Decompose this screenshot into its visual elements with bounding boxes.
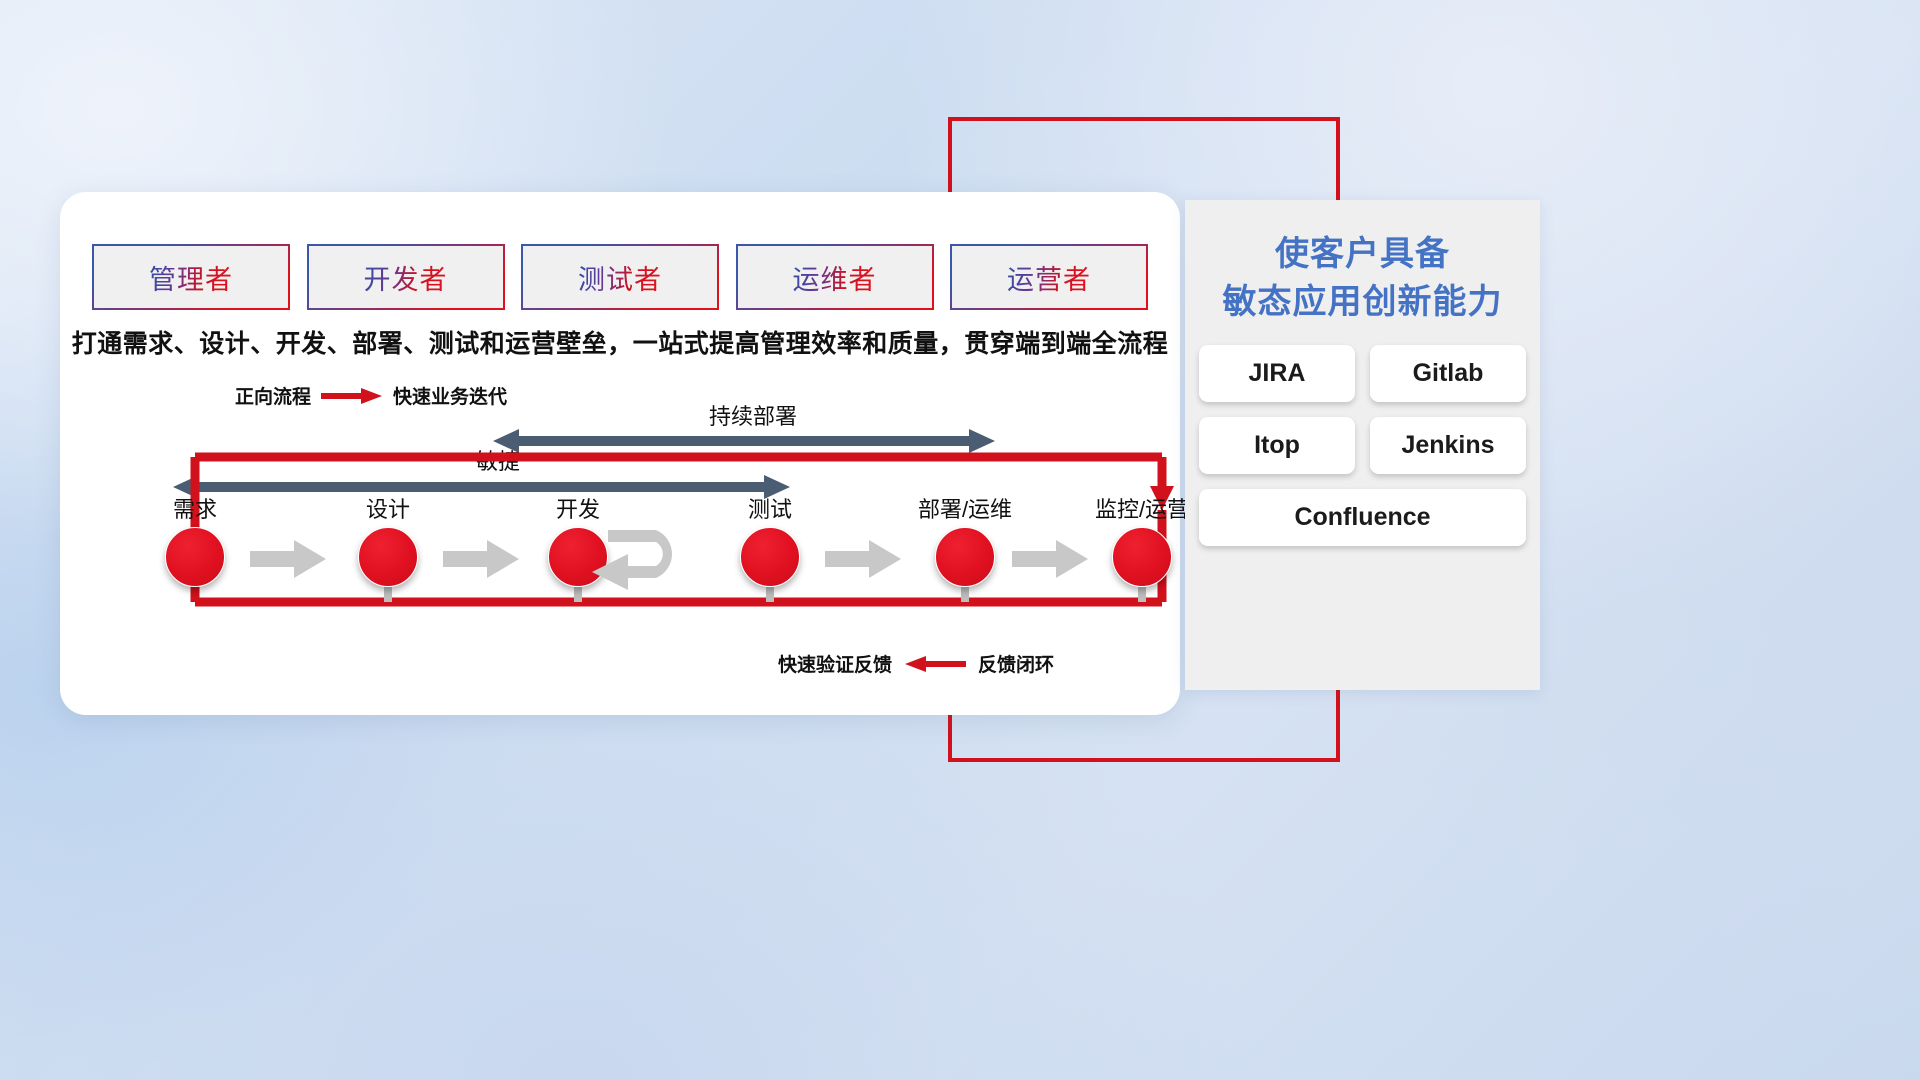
stage-label: 设计: [328, 492, 448, 524]
tool-item-gitlab[interactable]: Gitlab: [1370, 345, 1526, 402]
stage-label: 测试: [710, 492, 830, 524]
pipeline-stage-design[interactable]: 设计: [328, 492, 448, 587]
stage-label: 部署/运维: [905, 492, 1025, 524]
role-box-developer[interactable]: 开发者: [307, 244, 505, 310]
pipeline-row: 需求 设计 开发 测试: [60, 492, 1180, 612]
stage-label: 开发: [518, 492, 638, 524]
tool-label: Itop: [1254, 431, 1300, 460]
panel-title: 使客户具备 敏态应用创新能力: [1185, 230, 1540, 327]
stage-dot-icon: [935, 527, 995, 587]
tool-item-confluence[interactable]: Confluence: [1199, 489, 1526, 546]
role-label: 开发者: [364, 258, 448, 297]
stage-dot-icon: [165, 527, 225, 587]
value-proposition-panel: 使客户具备 敏态应用创新能力 JIRA Gitlab Itop Jenkins …: [1185, 200, 1540, 690]
span-label-continuous-deployment: 持续部署: [653, 399, 853, 431]
description-text: 打通需求、设计、开发、部署、测试和运营壁垒，一站式提高管理效率和质量，贯穿端到端…: [60, 324, 1180, 360]
legend-forward-right-label: 快速业务迭代: [393, 382, 507, 409]
role-label: 运维者: [793, 258, 877, 297]
arrow-right-icon: [321, 386, 383, 406]
pipeline-stage-deploy-ops[interactable]: 部署/运维: [905, 492, 1025, 587]
pipeline-stage-testing[interactable]: 测试: [710, 492, 830, 587]
stage-label: 监控/运营: [1082, 492, 1202, 524]
tool-item-jenkins[interactable]: Jenkins: [1370, 417, 1526, 474]
role-box-operations[interactable]: 运营者: [950, 244, 1148, 310]
uturn-loop-arrow-icon: [578, 526, 693, 602]
chevron-arrow-icon: [1012, 540, 1088, 578]
tool-item-jira[interactable]: JIRA: [1199, 345, 1355, 402]
chevron-arrow-icon: [250, 540, 326, 578]
tool-label: Confluence: [1294, 503, 1430, 532]
stage-dot-icon: [1112, 527, 1172, 587]
role-box-manager[interactable]: 管理者: [92, 244, 290, 310]
tool-list: JIRA Gitlab Itop Jenkins Confluence: [1199, 345, 1526, 546]
tool-label: Jenkins: [1401, 431, 1494, 460]
legend-forward-left-label: 正向流程: [235, 382, 311, 409]
tool-label: JIRA: [1249, 359, 1306, 388]
role-label: 管理者: [149, 258, 233, 297]
role-label: 测试者: [578, 258, 662, 297]
stage-dot-icon: [358, 527, 418, 587]
panel-title-line1: 使客户具备: [1185, 230, 1540, 278]
role-box-row: 管理者 开发者 测试者 运维者 运营者: [92, 244, 1148, 306]
role-label: 运营者: [1007, 258, 1091, 297]
tool-item-itop[interactable]: Itop: [1199, 417, 1355, 474]
chevron-arrow-icon: [825, 540, 901, 578]
panel-title-line2: 敏态应用创新能力: [1185, 278, 1540, 326]
chevron-arrow-icon: [443, 540, 519, 578]
stage-dot-icon: [740, 527, 800, 587]
stage-label: 需求: [135, 492, 255, 524]
role-box-ops[interactable]: 运维者: [736, 244, 934, 310]
main-diagram-card: 管理者 开发者 测试者 运维者 运营者 打通需求、设计、开发、部署、测试和运营壁…: [60, 192, 1180, 715]
legend-forward-flow: 正向流程 快速业务迭代: [235, 382, 507, 409]
role-box-tester[interactable]: 测试者: [521, 244, 719, 310]
tool-label: Gitlab: [1413, 359, 1484, 388]
pipeline-stage-monitor-operations[interactable]: 监控/运营: [1082, 492, 1202, 587]
pipeline-stage-requirements[interactable]: 需求: [135, 492, 255, 587]
